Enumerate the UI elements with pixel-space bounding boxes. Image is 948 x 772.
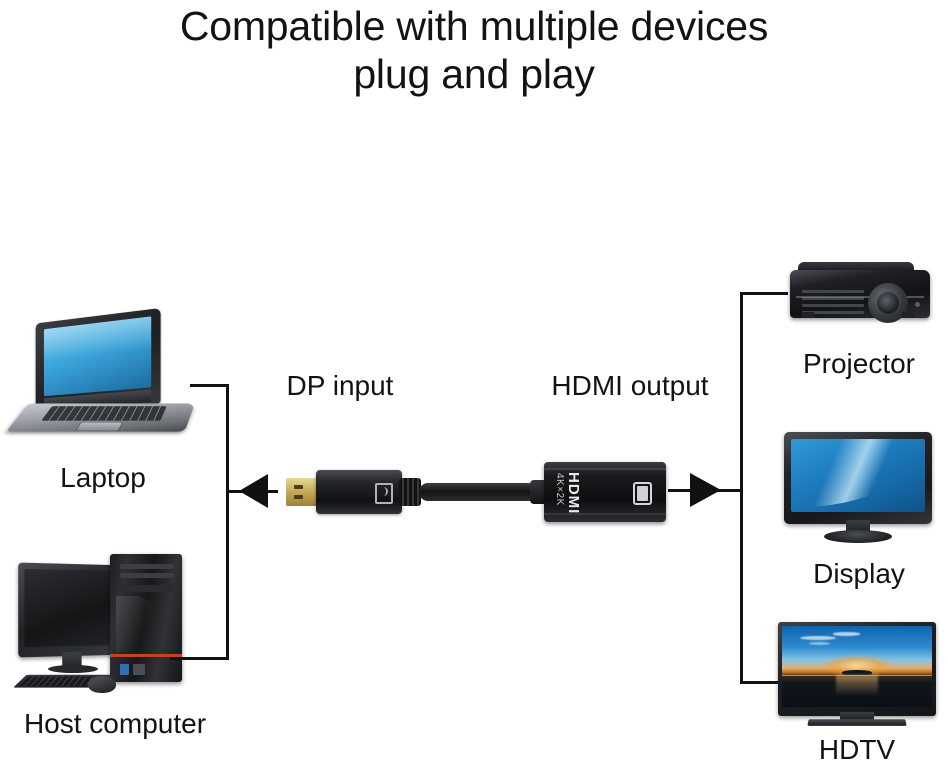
hdtv-branch-line bbox=[740, 681, 782, 684]
hdtv-wallpaper-cloud bbox=[800, 636, 836, 640]
tower-drive-bay bbox=[120, 573, 174, 578]
projector-branch-line bbox=[740, 292, 788, 295]
laptop-illustration bbox=[18, 316, 190, 444]
left-bracket-spine bbox=[226, 384, 229, 660]
laptop-touchpad bbox=[75, 422, 123, 431]
display-illustration bbox=[784, 432, 932, 544]
hdtv-wallpaper-reflection bbox=[836, 675, 878, 696]
projector-sensor bbox=[915, 302, 920, 307]
hdtv-illustration bbox=[778, 622, 936, 730]
display-stand-base bbox=[824, 530, 892, 543]
host-computer-illustration bbox=[18, 552, 208, 702]
projector-vent bbox=[802, 304, 864, 307]
projector-body bbox=[790, 270, 930, 318]
adapter-cable bbox=[419, 483, 537, 501]
hdtv-caption: HDTV bbox=[768, 734, 946, 766]
dp-input-label: DP input bbox=[250, 370, 430, 402]
projector-foot bbox=[902, 312, 914, 318]
projector-caption: Projector bbox=[770, 348, 948, 380]
diagram-canvas: Compatible with multiple devices plug an… bbox=[0, 0, 948, 772]
hdmi-output-label: HDMI output bbox=[520, 370, 740, 402]
dp-to-hdmi-adapter: HDMI 4K×2K bbox=[286, 462, 666, 524]
laptop-screen bbox=[44, 316, 151, 396]
displayport-connector-housing bbox=[316, 470, 402, 514]
tower-badge bbox=[133, 664, 145, 675]
projector-vent bbox=[802, 290, 864, 293]
tower-drive-bay bbox=[120, 564, 174, 569]
laptop-keyboard bbox=[41, 406, 167, 421]
hdmi-shell-sublabel: 4K×2K bbox=[554, 473, 565, 506]
hdmi-port-icon bbox=[633, 482, 652, 505]
display-caption: Display bbox=[770, 558, 948, 590]
arrow-left-icon bbox=[239, 474, 268, 508]
tower-highlight bbox=[116, 596, 162, 652]
host-tower bbox=[110, 554, 182, 682]
dp-pin bbox=[294, 495, 303, 499]
laptop-branch-line bbox=[190, 384, 229, 387]
host-branch-line bbox=[170, 657, 229, 660]
cable-strain-relief bbox=[399, 478, 421, 506]
laptop-base bbox=[6, 403, 195, 431]
hdmi-adapter-housing: HDMI 4K×2K bbox=[544, 462, 666, 522]
displayport-logo-icon bbox=[375, 483, 393, 504]
projector-illustration bbox=[786, 262, 934, 328]
display-screen bbox=[791, 439, 925, 512]
title-line-2: plug and play bbox=[0, 50, 948, 98]
laptop-lid bbox=[36, 308, 161, 412]
hdmi-shell-label: HDMI bbox=[565, 472, 582, 514]
tower-optical-drive bbox=[120, 585, 174, 592]
hdtv-screen bbox=[782, 626, 932, 707]
display-wallpaper-swoosh bbox=[791, 439, 925, 512]
hdtv-wallpaper-cloud bbox=[809, 642, 830, 645]
page-title: Compatible with multiple devices plug an… bbox=[0, 2, 948, 99]
hdmi-housing-text: HDMI 4K×2K bbox=[548, 468, 596, 516]
host-computer-caption: Host computer bbox=[0, 708, 230, 740]
host-monitor-base bbox=[48, 665, 98, 673]
tower-badge bbox=[120, 664, 129, 675]
hdtv-wallpaper-cloud bbox=[833, 632, 860, 635]
host-monitor bbox=[18, 563, 122, 658]
right-bracket-spine bbox=[740, 292, 743, 684]
host-monitor-screen bbox=[24, 569, 117, 647]
arrow-right-icon bbox=[690, 473, 721, 507]
projector-foot bbox=[802, 312, 814, 318]
dp-pin bbox=[294, 485, 303, 489]
host-mouse bbox=[88, 676, 116, 693]
hdtv-bezel bbox=[778, 622, 936, 716]
title-line-1: Compatible with multiple devices bbox=[0, 2, 948, 50]
laptop-caption: Laptop bbox=[8, 462, 198, 494]
hdtv-stand-base bbox=[807, 719, 906, 726]
display-bezel bbox=[784, 432, 932, 524]
displayport-connector-tip bbox=[286, 478, 320, 506]
